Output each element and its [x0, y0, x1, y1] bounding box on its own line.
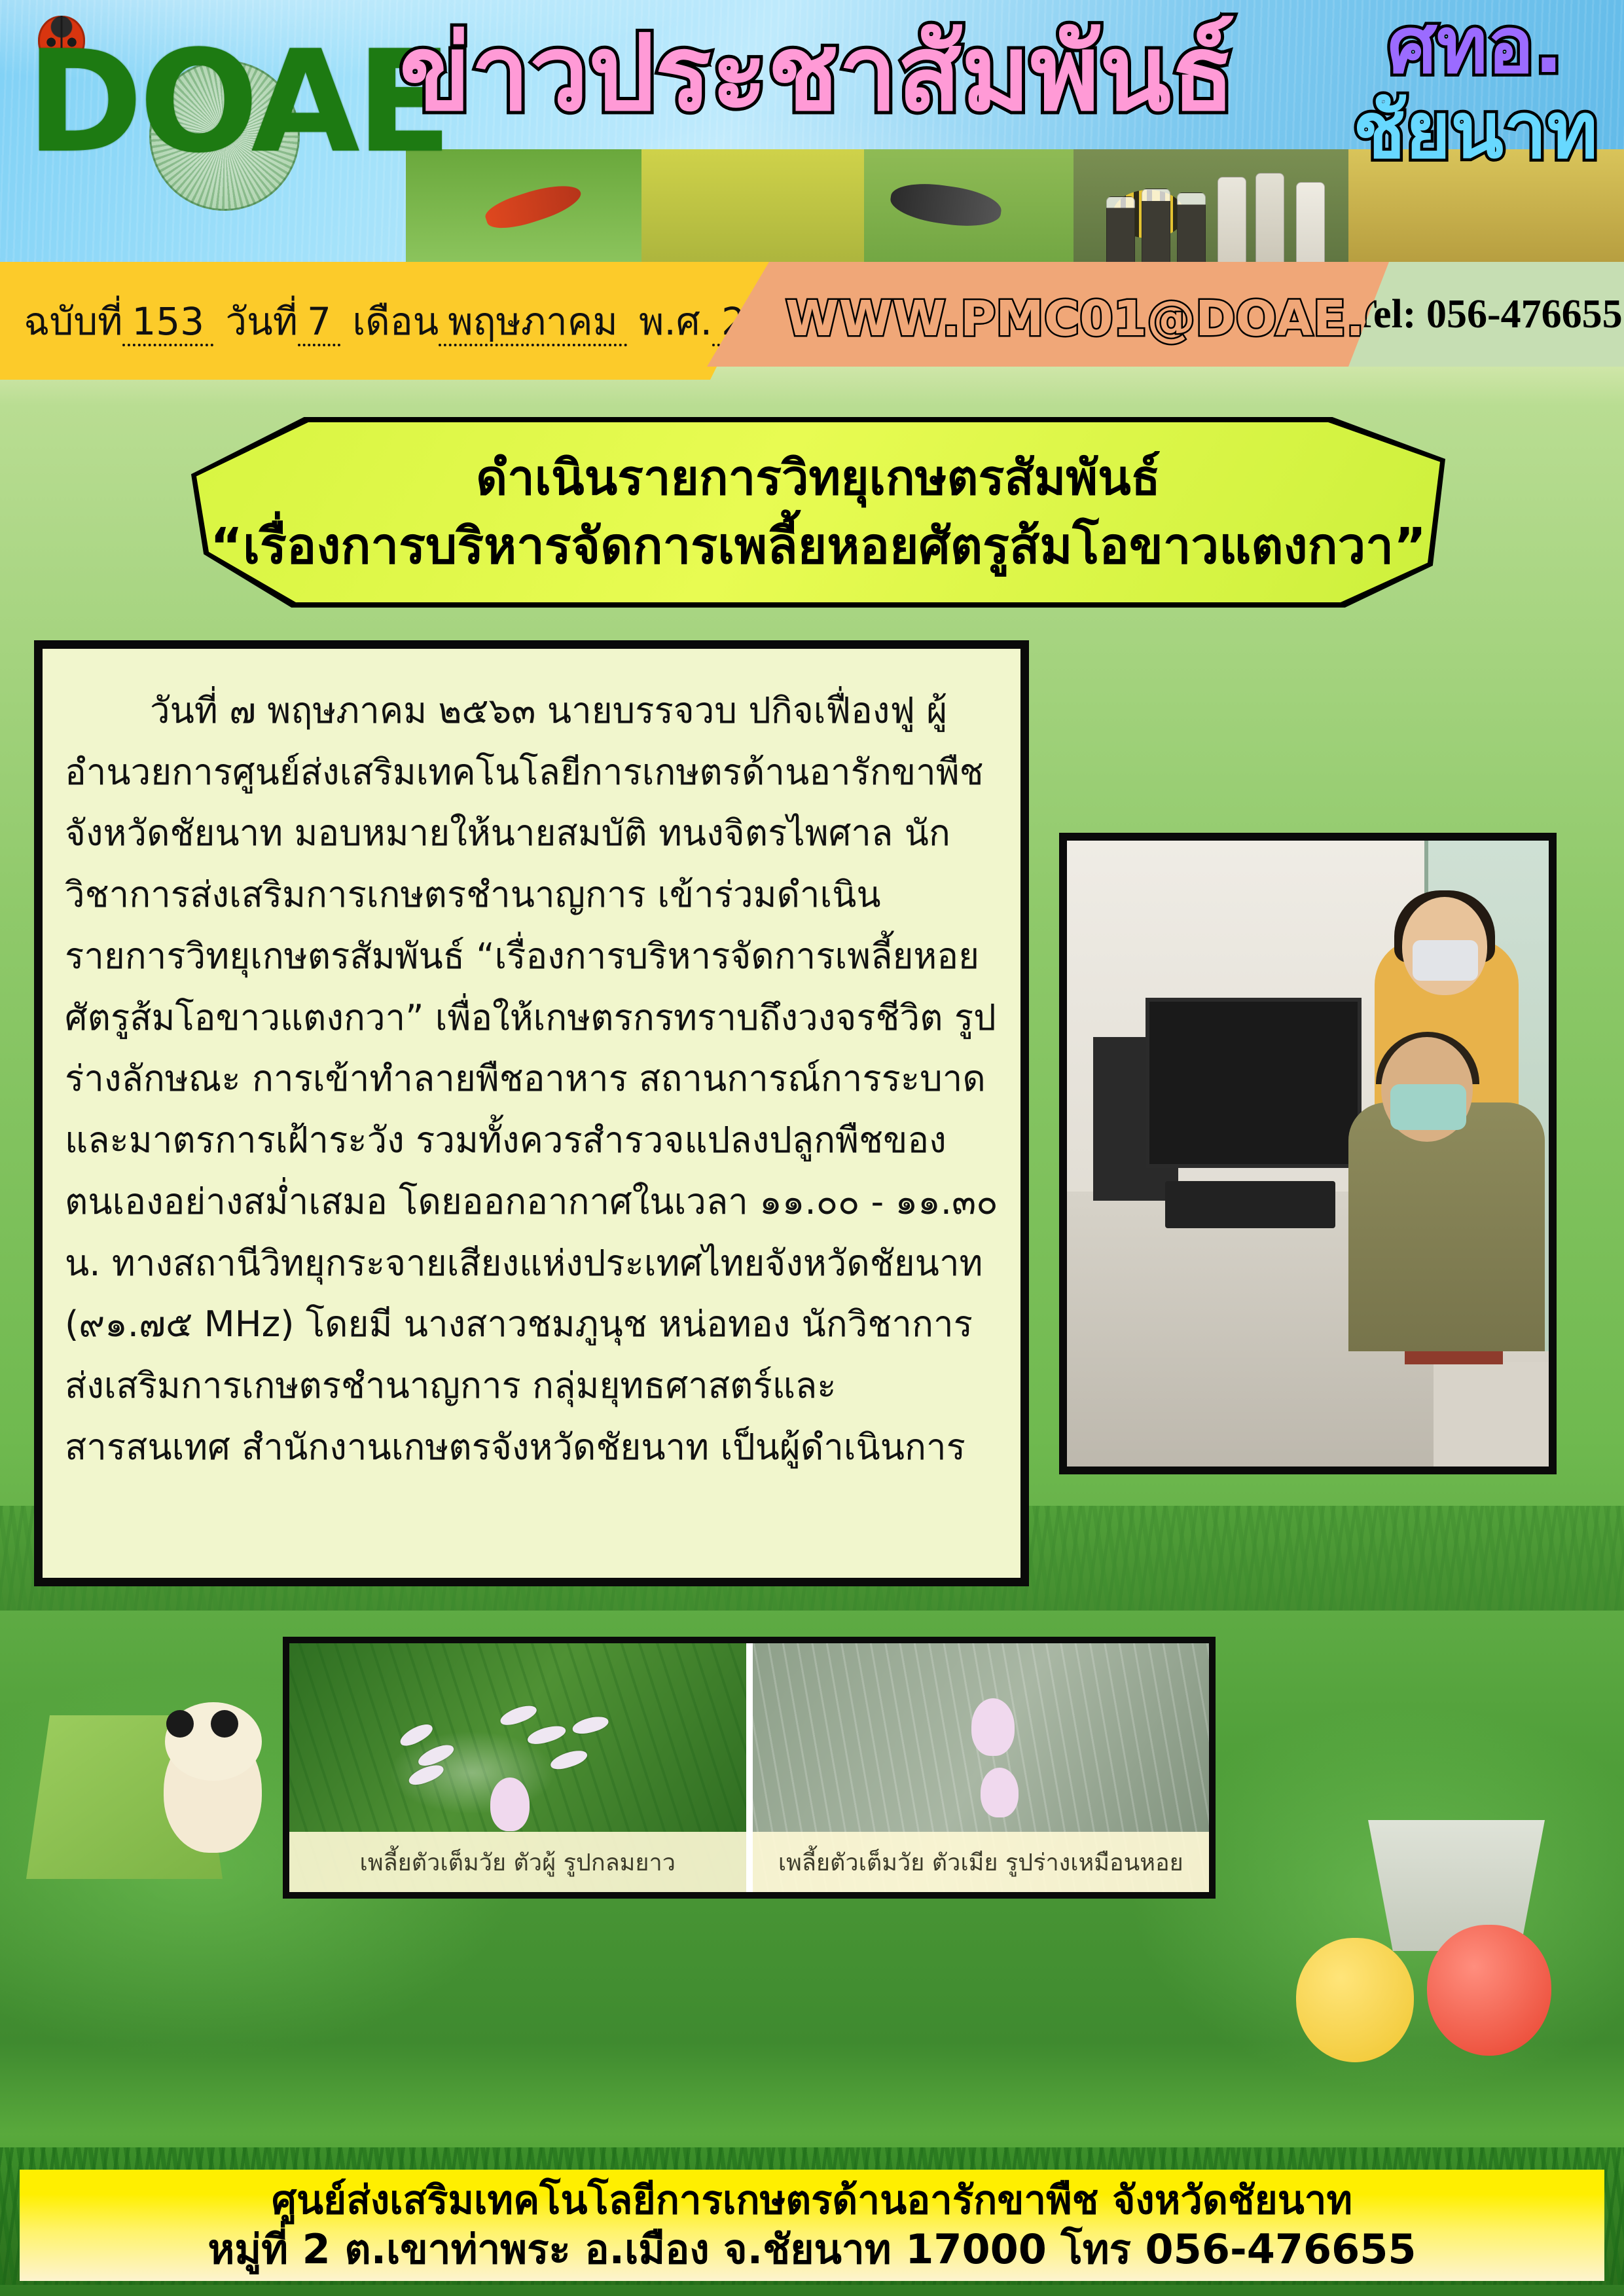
caption-wrap-left: เพลี้ยตัวเต็มวัย ตัวผู้ รูปกลมยาว: [289, 1832, 746, 1892]
issue-prefix: ฉบับที่: [24, 299, 122, 344]
header-org-line1: ศทอ.: [1353, 7, 1598, 84]
bottle-decor-4: [1218, 177, 1246, 275]
doae-logo: DOAE: [26, 31, 448, 172]
scale-insect-female-1: [971, 1698, 1015, 1756]
issue-day: 7: [298, 299, 340, 346]
month-prefix: เดือน: [352, 299, 439, 344]
title-banner-line1: ดำเนินรายการวิทยุเกษตรสัมพันธ์: [476, 448, 1161, 509]
title-banner: ดำเนินรายการวิทยุเกษตรสัมพันธ์ “เรื่องกา…: [196, 422, 1440, 602]
page-header: DOAE ข่าวประชาสัมพันธ์ ศทอ. ชัยนาท: [0, 0, 1624, 275]
scale-insect-female-2: [981, 1768, 1019, 1817]
photo-monitor-main: [1146, 998, 1362, 1168]
page-footer: ศูนย์ส่งเสริมเทคโนโลยีการเกษตรด้านอารักข…: [20, 2170, 1604, 2281]
studio-photo: [1059, 833, 1557, 1474]
footer-address: หมู่ที่ 2 ต.เขาท่าพระ อ.เมือง จ.ชัยนาท 1…: [208, 2227, 1416, 2272]
scale-insect-female-sample: [490, 1777, 530, 1831]
header-org-abbrev: ศทอ. ชัยนาท: [1353, 7, 1598, 169]
issue-band: ฉบับที่153 วันที่7 เดือนพฤษภาคม พ.ศ.2563: [0, 262, 769, 380]
year-prefix: พ.ศ.: [639, 299, 712, 344]
bottle-decor-6: [1296, 182, 1325, 275]
scale-insect-photo-female: เพลี้ยตัวเต็มวัย ตัวเมีย รูปร่างเหมือนหอ…: [746, 1643, 1210, 1892]
red-balloon-decor: [1427, 1925, 1551, 2056]
photo-person-seated-mask: [1390, 1084, 1466, 1130]
caption-wrap-right: เพลี้ยตัวเต็มวัย ตัวเมีย รูปร่างเหมือนหอ…: [753, 1832, 1210, 1892]
issue-line: ฉบับที่153 วันที่7 เดือนพฤษภาคม พ.ศ.2563: [0, 291, 827, 352]
article-textbox: วันที่ ๗ พฤษภาคม ๒๕๖๓ นายบรรจวบ ปกิจเฟื่…: [34, 640, 1029, 1586]
photo-keyboard: [1165, 1181, 1335, 1228]
newsletter-page: DOAE ข่าวประชาสัมพันธ์ ศทอ. ชัยนาท ฉบับท…: [0, 0, 1624, 2296]
caption-right: เพลี้ยตัวเต็มวัย ตัวเมีย รูปร่างเหมือนหอ…: [778, 1844, 1183, 1881]
yellow-balloon-decor: [1296, 1938, 1414, 2062]
footer-org-name: ศูนย์ส่งเสริมเทคโนโลยีการเกษตรด้านอารักข…: [272, 2179, 1352, 2223]
header-org-line2: ชัยนาท: [1353, 92, 1598, 169]
bottle-decor-5: [1255, 173, 1284, 275]
header-title: ข่าวประชาสัมพันธ์: [399, 18, 1235, 128]
article-paragraph: วันที่ ๗ พฤษภาคม ๒๕๖๓ นายบรรจวบ ปกิจเฟื่…: [65, 680, 998, 1478]
title-banner-line2: “เรื่องการบริหารจัดการเพลี้ยหอยศัตรูส้มโ…: [210, 515, 1426, 577]
article-body: วันที่ ๗ พฤษภาคม ๒๕๖๓ นายบรรจวบ ปกิจเฟื่…: [43, 649, 1020, 1478]
photo-person-seated-body: [1348, 1102, 1545, 1351]
issue-month: พฤษภาคม: [439, 299, 626, 346]
tel-band: Tel: 056-476655: [1348, 262, 1624, 367]
issue-number: 153: [122, 299, 213, 346]
scale-insect-photos: เพลี้ยตัวเต็มวัย ตัวผู้ รูปกลมยาว เพลี้ย…: [283, 1637, 1216, 1899]
photo-person-standing-mask: [1413, 940, 1478, 981]
scale-insect-photo-male: เพลี้ยตัวเต็มวัย ตัวผู้ รูปกลมยาว: [289, 1643, 746, 1892]
caption-left: เพลี้ยตัวเต็มวัย ตัวผู้ รูปกลมยาว: [360, 1844, 676, 1881]
info-bar: ฉบับที่153 วันที่7 เดือนพฤษภาคม พ.ศ.2563…: [0, 262, 1624, 380]
telephone-number: Tel: 056-476655: [1350, 291, 1622, 338]
header-photo-strip-2: [641, 149, 864, 275]
frog-eye-decor: [211, 1710, 238, 1738]
frog-head-decor: [165, 1702, 262, 1781]
date-prefix: วันที่: [226, 299, 298, 344]
